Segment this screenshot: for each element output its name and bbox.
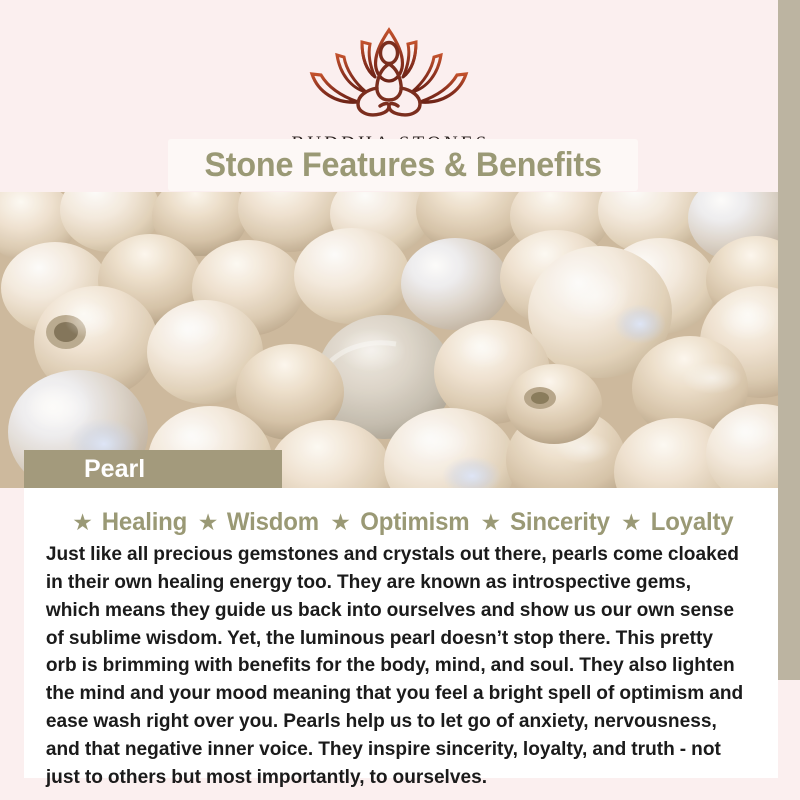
benefit-item: ★ Sincerity xyxy=(472,508,612,537)
stone-name: Pearl xyxy=(84,455,145,484)
benefit-label: Optimism xyxy=(360,508,469,537)
benefit-label: Wisdom xyxy=(227,508,319,537)
frame-right-band xyxy=(778,18,800,680)
benefit-label: Loyalty xyxy=(650,508,733,537)
page-title: Stone Features & Benefits xyxy=(204,146,601,185)
benefit-item: ★ Loyalty xyxy=(612,508,735,537)
benefit-item: ★ Optimism xyxy=(321,508,471,537)
poster-root: BUDDHA STONES Stone Features & Benefits xyxy=(0,0,800,800)
star-icon: ★ xyxy=(481,511,502,534)
brand-block: BUDDHA STONES xyxy=(0,22,778,155)
lotus-meditation-icon xyxy=(0,22,778,131)
content-card: ★ Healing ★ Wisdom ★ Optimism ★ Sincerit… xyxy=(24,488,778,778)
hero-image xyxy=(0,192,778,488)
stone-name-bar: Pearl xyxy=(24,450,282,488)
benefit-label: Healing xyxy=(102,508,187,537)
benefits-row: ★ Healing ★ Wisdom ★ Optimism ★ Sincerit… xyxy=(38,508,760,537)
star-icon: ★ xyxy=(330,511,351,534)
star-icon: ★ xyxy=(621,511,642,534)
title-plate: Stone Features & Benefits xyxy=(168,139,638,191)
star-icon: ★ xyxy=(198,511,219,534)
description-paragraph: Just like all precious gemstones and cry… xyxy=(38,541,749,792)
benefit-item: ★ Wisdom xyxy=(189,508,321,537)
benefit-item: ★ Healing xyxy=(63,508,189,537)
star-icon: ★ xyxy=(72,511,93,534)
benefit-label: Sincerity xyxy=(510,508,610,537)
